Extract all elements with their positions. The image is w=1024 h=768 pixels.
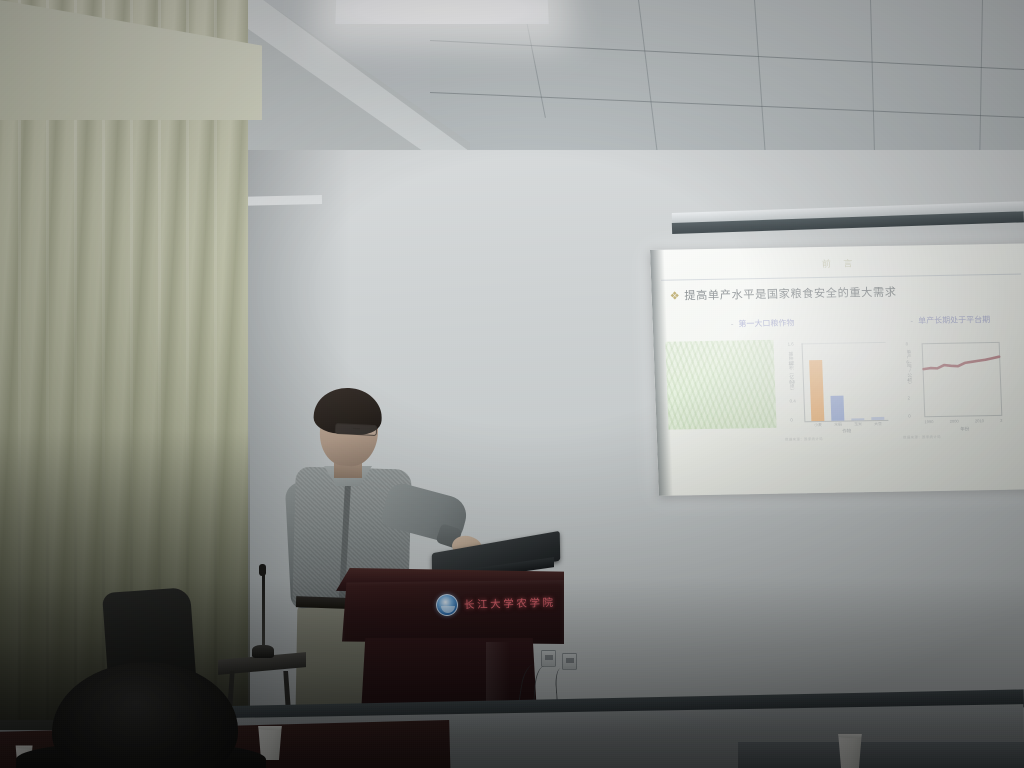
- bar-ytick-0: 1.6: [787, 341, 793, 346]
- microphone-head: [259, 564, 266, 576]
- diamond-bullet-icon: ❖: [670, 290, 681, 302]
- line-xtick-2: 2010: [975, 418, 984, 423]
- line-xtick-0: 1990: [924, 419, 933, 424]
- line-xtick-3: 2: [1000, 418, 1002, 423]
- slide-title-text: 提高单产水平是国家粮食安全的重大需求: [684, 287, 897, 303]
- bar-chart: 播种面积（亿公顷） 1.6 1.2 0.8 0.4 0 小麦水稻玉米大豆 作物 …: [781, 338, 895, 444]
- bar-chart-bars: [804, 342, 889, 421]
- lecture-hall-photo: 前 言 ❖提高单产水平是国家粮食安全的重大需求 -第一大口粮作物 -单产长期处于…: [0, 0, 1024, 768]
- subpoint-2: -单产长期处于平台期: [910, 314, 990, 326]
- bar-0: [809, 360, 824, 421]
- bar-ytick-2: 0.8: [789, 379, 795, 384]
- line-chart: 单产（吨/公顷） 8 6 4 2 0 1990200020102 年份 数据来源…: [899, 336, 1007, 442]
- bar-xtick-3: 大豆: [871, 422, 884, 427]
- bar-chart-ylabel: 播种面积（亿公顷）: [784, 351, 796, 393]
- bar-xtick-2: 玉米: [851, 422, 864, 427]
- desk-microphone: [252, 645, 274, 658]
- subpoint-1-label: 第一大口粮作物: [738, 318, 794, 328]
- ceiling-light-panel: [335, 0, 548, 24]
- institution-name: 长江大学农学院: [464, 595, 566, 613]
- subpoint-2-label: 单产长期处于平台期: [918, 315, 990, 325]
- wheat-field-photo: [665, 340, 776, 430]
- dash-icon: -: [731, 320, 734, 329]
- projection-screen: 前 言 ❖提高单产水平是国家粮食安全的重大需求 -第一大口粮作物 -单产长期处于…: [650, 243, 1024, 495]
- bar-ytick-4: 0: [790, 418, 793, 423]
- bar-xtick-0: 小麦: [811, 423, 824, 428]
- bar-2: [851, 418, 864, 420]
- bar-3: [871, 417, 884, 420]
- glasses-icon: [335, 423, 378, 436]
- bar-ytick-3: 0.4: [790, 398, 796, 403]
- slide-subpoints: -第一大口粮作物 -单产长期处于平台期: [653, 313, 1024, 331]
- bar-ytick-1: 1.2: [788, 360, 794, 365]
- bar-1: [830, 395, 844, 421]
- slide-title-line: ❖提高单产水平是国家粮食安全的重大需求: [669, 282, 1015, 304]
- slide-body: 播种面积（亿公顷） 1.6 1.2 0.8 0.4 0 小麦水稻玉米大豆 作物 …: [665, 336, 1024, 460]
- bar-xtick-1: 水稻: [831, 423, 844, 428]
- subpoint-1: -第一大口粮作物: [731, 317, 795, 329]
- microphone-stem: [262, 570, 265, 648]
- bar-chart-source: 数据来源：国家统计局: [785, 435, 895, 442]
- university-emblem: [436, 594, 458, 616]
- dash-icon: -: [910, 316, 913, 325]
- line-xtick-1: 2000: [950, 419, 959, 424]
- audience-table: [738, 742, 1024, 768]
